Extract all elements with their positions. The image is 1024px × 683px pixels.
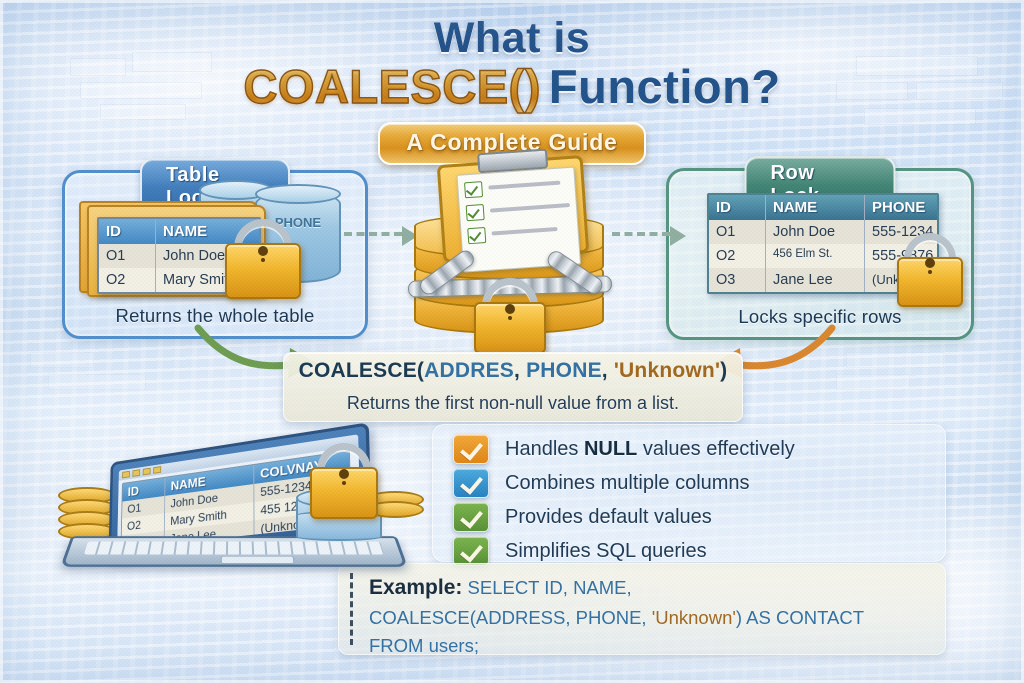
- code-separator: ,: [602, 359, 614, 382]
- benefit-label-pre: Handles: [505, 438, 584, 460]
- col-header-id: ID: [99, 219, 156, 244]
- clipboard-icon: [437, 155, 589, 263]
- coalesce-description: Returns the first non-null value from a …: [284, 393, 742, 414]
- page-title-line1: What is: [0, 14, 1024, 63]
- padlock-icon: [897, 233, 963, 307]
- benefit-label: Combines multiple columns: [505, 472, 750, 495]
- cell-name: John Doe: [766, 220, 865, 244]
- cell-id: O2: [709, 244, 766, 268]
- col-header-phone: PHONE: [865, 195, 937, 220]
- code-arg-address: ADDRES: [424, 359, 514, 382]
- laptop-illustration: ID NAME COLVNAY O1 John Doe 555-1234 O2 …: [58, 443, 408, 568]
- benefit-item: Simplifies SQL queries: [453, 536, 707, 566]
- benefits-panel: Handles NULL values effectively Combines…: [432, 424, 946, 562]
- code-arg-phone: PHONE: [526, 359, 602, 382]
- check-icon: [464, 181, 483, 198]
- laptop-keyboard: [84, 541, 384, 554]
- locked-database-illustration: [392, 160, 628, 350]
- example-line1: SELECT ID, NAME,: [462, 577, 631, 598]
- cell-id: O3: [709, 268, 766, 292]
- laptop-trackpad: [220, 556, 294, 564]
- paper-line: [492, 227, 558, 236]
- coalesce-banner: COALESCE(ADDRES, PHONE, 'Unknown') Retur…: [283, 352, 743, 422]
- example-accent-bar: [350, 573, 353, 645]
- col-header-name: NAME: [766, 195, 865, 220]
- title-function-word: Function?: [549, 60, 781, 113]
- benefit-item: Handles NULL values effectively: [453, 434, 795, 464]
- example-line3-table: users;: [429, 635, 479, 656]
- code-separator: ,: [514, 359, 526, 382]
- benefit-label: Provides default values: [505, 506, 712, 529]
- table-lock-panel: Table Lock PHONE ID NAME O1 John Doe O2 …: [62, 170, 368, 339]
- infographic-canvas: What is COALESCE()Function? A Complete G…: [0, 0, 1024, 683]
- check-icon: [453, 434, 489, 464]
- table-header-row: ID NAME PHONE: [709, 195, 937, 220]
- padlock-icon: [310, 443, 378, 519]
- padlock-icon: [225, 219, 301, 299]
- check-icon: [467, 227, 486, 244]
- example-code: Example: SELECT ID, NAME, COALESCE(ADDRE…: [369, 572, 935, 660]
- benefit-label-bold: NULL: [584, 438, 637, 460]
- row-lock-panel: Row Lock ID NAME PHONE O1 John Doe 555-1…: [666, 168, 974, 340]
- check-icon: [453, 536, 489, 566]
- example-line2-b: ) AS CONTACT: [736, 607, 864, 628]
- benefit-label: Simplifies SQL queries: [505, 540, 707, 563]
- benefit-item: Provides default values: [453, 502, 712, 532]
- example-line3-keyword: FROM: [369, 635, 429, 656]
- check-icon: [453, 502, 489, 532]
- code-function: COALESCE(: [299, 359, 424, 382]
- code-close-paren: ): [720, 359, 727, 382]
- check-icon: [466, 204, 485, 221]
- page-title-line2: COALESCE()Function?: [0, 61, 1024, 114]
- example-panel: Example: SELECT ID, NAME, COALESCE(ADDRE…: [338, 563, 946, 655]
- check-icon: [453, 468, 489, 498]
- cell-name: Jane Lee: [766, 268, 865, 292]
- coalesce-expression: COALESCE(ADDRES, PHONE, 'Unknown'): [284, 359, 742, 383]
- padlock-icon: [474, 278, 546, 354]
- code-string-unknown: 'Unknown': [614, 359, 720, 382]
- benefit-label: Handles NULL values effectively: [505, 438, 795, 461]
- benefit-item: Combines multiple columns: [453, 468, 750, 498]
- watermark-server-bottom-right: [836, 352, 976, 400]
- title-block: What is COALESCE()Function? A Complete G…: [0, 14, 1024, 165]
- benefit-label-post: values effectively: [637, 438, 795, 460]
- cell-id: O1: [709, 220, 766, 244]
- title-function-name: COALESCE(): [243, 60, 540, 113]
- watermark-server-bottom-left: [30, 352, 150, 400]
- cell-name: 456 Elm St.: [766, 244, 865, 268]
- example-line2-a: COALESCE(ADDRESS, PHONE,: [369, 607, 652, 628]
- example-line2-string: 'Unknown': [652, 607, 736, 628]
- paper-line: [490, 203, 570, 213]
- cell-id: O2: [99, 268, 156, 292]
- paper-line: [488, 181, 560, 190]
- col-header-id: ID: [709, 195, 766, 220]
- example-label: Example:: [369, 576, 462, 599]
- cell-id: O1: [99, 244, 156, 268]
